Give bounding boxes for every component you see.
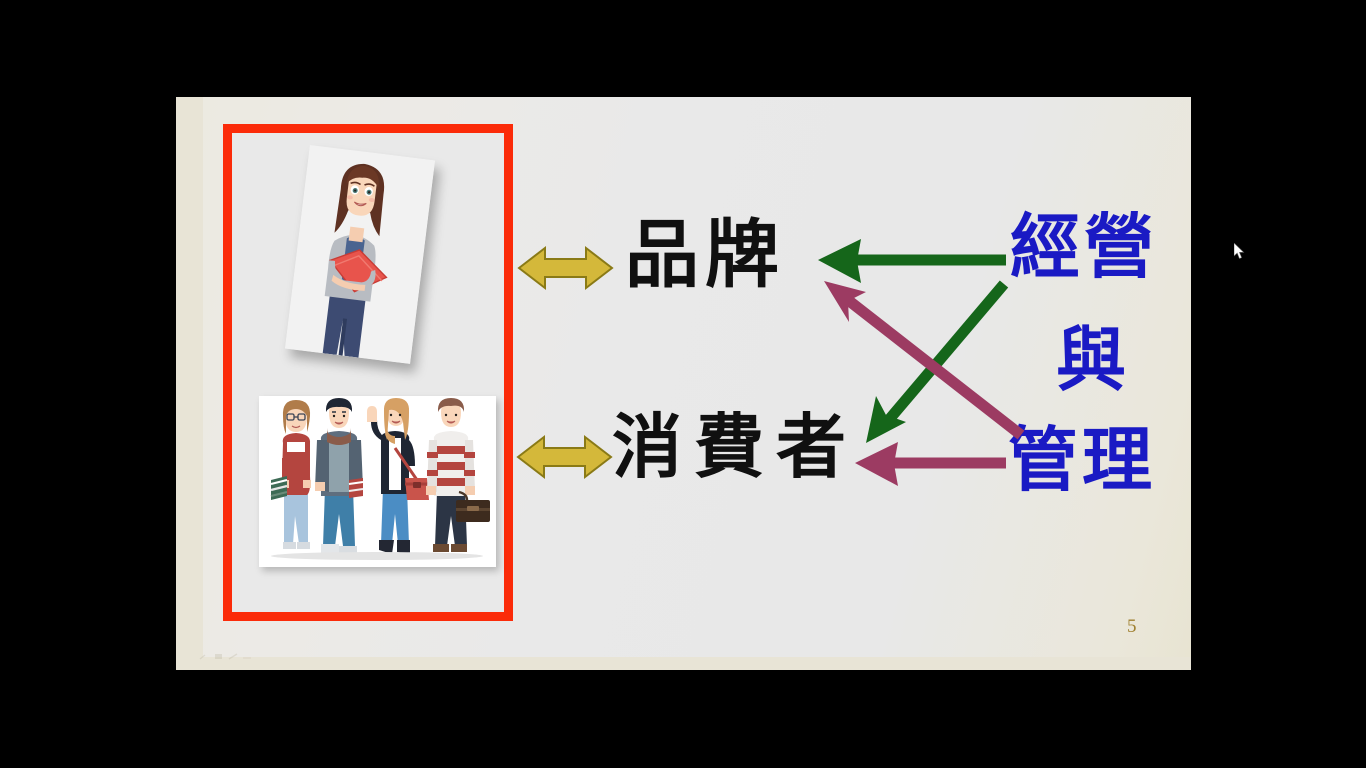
group-of-four-young-people-photo[interactable] xyxy=(259,396,496,567)
screen: 品牌 消費者 經營 與 管理 xyxy=(0,0,1366,768)
woman-illustration xyxy=(285,145,435,364)
group-illustration xyxy=(259,396,496,567)
label-management-line-2: 與 xyxy=(1056,325,1130,395)
label-management-line-1: 經營 xyxy=(1010,212,1158,282)
label-brand: 品牌 xyxy=(625,218,785,292)
woman-holding-folder-photo[interactable] xyxy=(285,145,435,364)
label-consumer: 消費者 xyxy=(612,412,858,482)
label-management-line-3: 管理 xyxy=(1008,425,1156,495)
page-number: 5 xyxy=(1127,616,1137,638)
faint-corner-marks xyxy=(199,652,259,662)
mouse-pointer xyxy=(1234,243,1246,261)
